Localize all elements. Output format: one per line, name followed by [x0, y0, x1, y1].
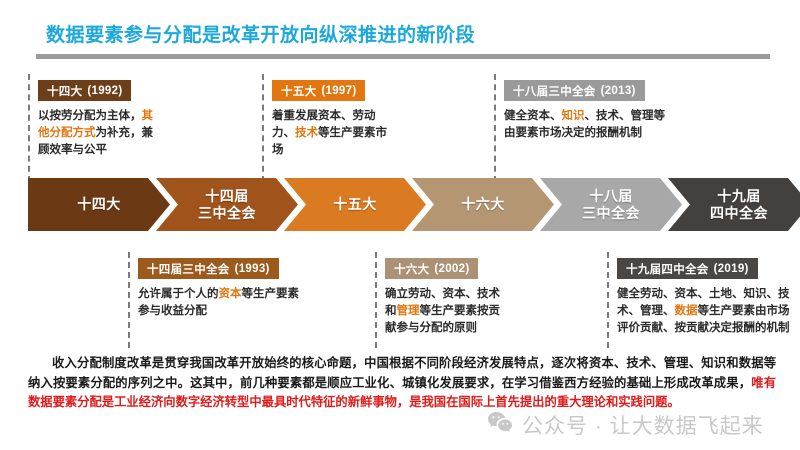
bottom-card-3-tag-year: (2019) — [714, 263, 749, 275]
card-dash-line — [28, 74, 30, 182]
top-card-3-tag-year: (2013) — [601, 85, 636, 97]
top-card-2-tag-label: 十五大 — [281, 83, 316, 99]
bottom-card-2-text-highlight: 管理 — [397, 305, 420, 317]
watermark-text: 公众号 · 让大数据飞起来 — [522, 410, 764, 440]
card-dash-line — [494, 74, 496, 182]
timeline-step-6-label: 十九届四中全会 — [710, 188, 768, 222]
bottom-card-3-body: 健全劳动、资本、土地、知识、技术、管理、数据等生产要素由市场评价贡献、按贡献决定… — [617, 286, 795, 337]
timeline-step-2-label: 十四届三中全会 — [198, 188, 256, 222]
bottom-card-3: 十九届四中全会 (2019) 健全劳动、资本、土地、知识、技术、管理、数据等生产… — [607, 252, 797, 348]
bottom-card-2-tag-label: 十六大 — [394, 261, 429, 277]
bottom-card-1-text-highlight: 资本 — [219, 288, 242, 300]
timeline-step-2[interactable]: 十四届三中全会 — [156, 178, 298, 231]
bottom-card-3-tag: 十九届四中全会 (2019) — [617, 258, 758, 279]
top-card-2-tag: 十五大 (1997) — [272, 80, 365, 101]
bottom-card-1: 十四届三中全会 (1993) 允许属于个人的资本等生产要素参与收益分配 — [128, 252, 363, 348]
bottom-card-3-tag-label: 十九届四中全会 — [626, 261, 709, 277]
bottom-card-2: 十六大 (2002) 确立劳动、资本、技术和管理等生产要素按贡献参与分配的原则 — [375, 252, 590, 348]
watermark: 公众号 · 让大数据飞起来 — [487, 410, 764, 440]
timeline-chevron-band: 十四大 十四届三中全会 十五大 十六大 十八届三中全会 十九届四中全会 — [28, 178, 758, 231]
summary-paragraph-part1: 收入分配制度改革是贯穿我国改革开放始终的核心命题，中国根据不同阶段经济发展特点，… — [28, 356, 776, 390]
top-card-3-tag-label: 十八届三中全会 — [513, 83, 596, 99]
timeline-step-1[interactable]: 十四大 — [28, 178, 170, 231]
timeline-step-6[interactable]: 十九届四中全会 — [668, 178, 800, 231]
timeline-step-4[interactable]: 十六大 — [412, 178, 554, 231]
top-card-3-tag: 十八届三中全会 (2013) — [504, 80, 645, 101]
bottom-card-2-tag: 十六大 (2002) — [385, 258, 478, 279]
bottom-card-2-tag-year: (2002) — [434, 263, 469, 275]
top-card-2: 十五大 (1997) 着重发展资本、劳动力、技术等生产要素市场 — [262, 74, 472, 182]
page-title: 数据要素参与分配是改革开放向纵深推进的新阶段 — [46, 22, 475, 50]
card-dash-line — [128, 252, 130, 348]
top-card-3-text-pre: 健全资本、 — [504, 110, 562, 122]
title-underline-rule — [36, 54, 770, 59]
top-card-3-text-highlight: 知识 — [562, 110, 585, 122]
timeline-step-3-label: 十五大 — [333, 196, 377, 213]
card-dash-line — [607, 252, 609, 348]
bottom-card-3-text-highlight: 数据 — [675, 305, 698, 317]
bottom-card-1-tag-year: (1993) — [235, 263, 270, 275]
timeline-step-1-label: 十四大 — [77, 196, 121, 213]
timeline-step-4-label: 十六大 — [461, 196, 505, 213]
top-card-1-tag: 十四大 (1992) — [38, 80, 131, 101]
bottom-card-1-body: 允许属于个人的资本等生产要素参与收益分配 — [138, 286, 310, 320]
wechat-icon — [487, 411, 513, 439]
slide-title-block: 数据要素参与分配是改革开放向纵深推进的新阶段 — [0, 22, 800, 64]
bottom-card-2-body: 确立劳动、资本、技术和管理等生产要素按贡献参与分配的原则 — [385, 286, 505, 337]
top-card-1-tag-label: 十四大 — [47, 83, 82, 99]
top-card-1-text-pre: 以按劳分配为主体， — [38, 110, 142, 122]
top-card-1-tag-year: (1992) — [87, 85, 122, 97]
top-card-2-body: 着重发展资本、劳动力、技术等生产要素市场 — [272, 108, 392, 159]
top-card-1: 十四大 (1992) 以按劳分配为主体，其他分配方式为补充，兼顾效率与公平 — [28, 74, 238, 182]
bottom-card-1-tag-label: 十四届三中全会 — [147, 261, 230, 277]
card-dash-line — [375, 252, 377, 348]
timeline-step-5[interactable]: 十八届三中全会 — [540, 178, 682, 231]
bottom-card-1-text-pre: 允许属于个人的 — [138, 288, 219, 300]
timeline-step-3[interactable]: 十五大 — [284, 178, 426, 231]
summary-paragraph: 收入分配制度改革是贯穿我国改革开放始终的核心命题，中国根据不同阶段经济发展特点，… — [28, 354, 776, 413]
bottom-card-1-tag: 十四届三中全会 (1993) — [138, 258, 279, 279]
top-card-3-body: 健全资本、知识、技术、管理等由要素市场决定的报酬机制 — [504, 108, 666, 142]
top-card-2-text-highlight: 技术 — [295, 127, 318, 139]
timeline-step-5-label: 十八届三中全会 — [582, 188, 640, 222]
card-dash-line — [262, 74, 264, 182]
top-card-1-body: 以按劳分配为主体，其他分配方式为补充，兼顾效率与公平 — [38, 108, 158, 159]
top-card-3: 十八届三中全会 (2013) 健全资本、知识、技术、管理等由要素市场决定的报酬机… — [494, 74, 754, 182]
top-card-2-tag-year: (1997) — [321, 85, 356, 97]
